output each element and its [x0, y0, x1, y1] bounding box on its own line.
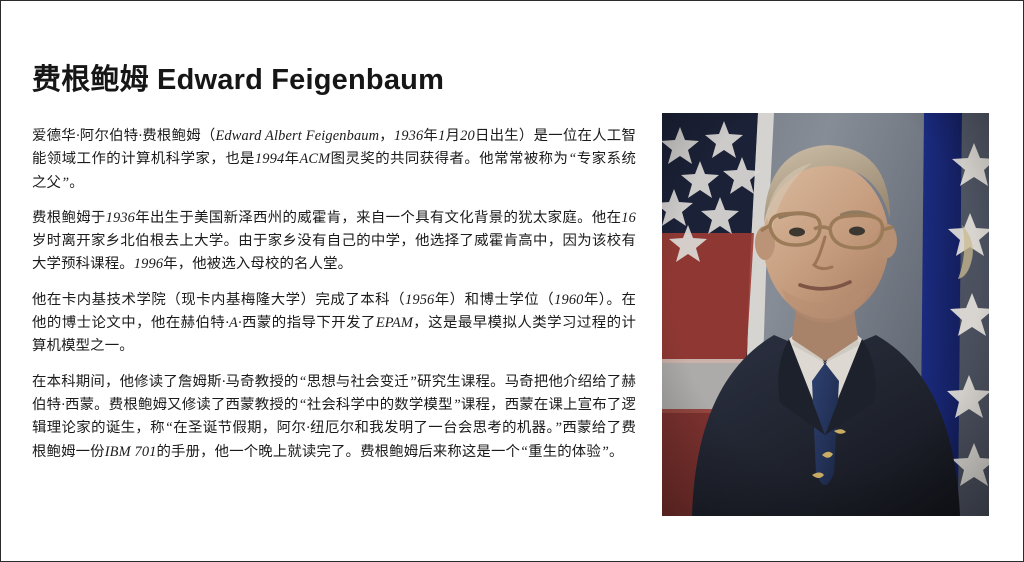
paragraph-intro: 爱德华·阿尔伯特·费根鲍姆（Edward Albert Feigenbaum，1… — [32, 125, 636, 195]
portrait-photo-image — [662, 113, 989, 516]
slide-page: 费根鲍姆 Edward Feigenbaum 爱德华·阿尔伯特·费根鲍姆（Edw… — [0, 0, 1024, 562]
paragraph-education: 他在卡内基技术学院（现卡内基梅隆大学）完成了本科（1956年）和博士学位（196… — [32, 289, 636, 359]
page-title: 费根鲍姆 Edward Feigenbaum — [32, 62, 444, 98]
article-body: 爱德华·阿尔伯特·费根鲍姆（Edward Albert Feigenbaum，1… — [32, 125, 636, 464]
page-content: 费根鲍姆 Edward Feigenbaum 爱德华·阿尔伯特·费根鲍姆（Edw… — [1, 1, 1023, 561]
paragraph-early-life: 费根鲍姆于1936年出生于美国新泽西州的威霍肯，来自一个具有文化背景的犹太家庭。… — [32, 207, 636, 277]
paragraph-undergraduate-courses: 在本科期间，他修读了詹姆斯·马奇教授的“思想与社会变迁”研究生课程。马奇把他介绍… — [32, 371, 636, 464]
portrait-photo — [662, 113, 989, 516]
